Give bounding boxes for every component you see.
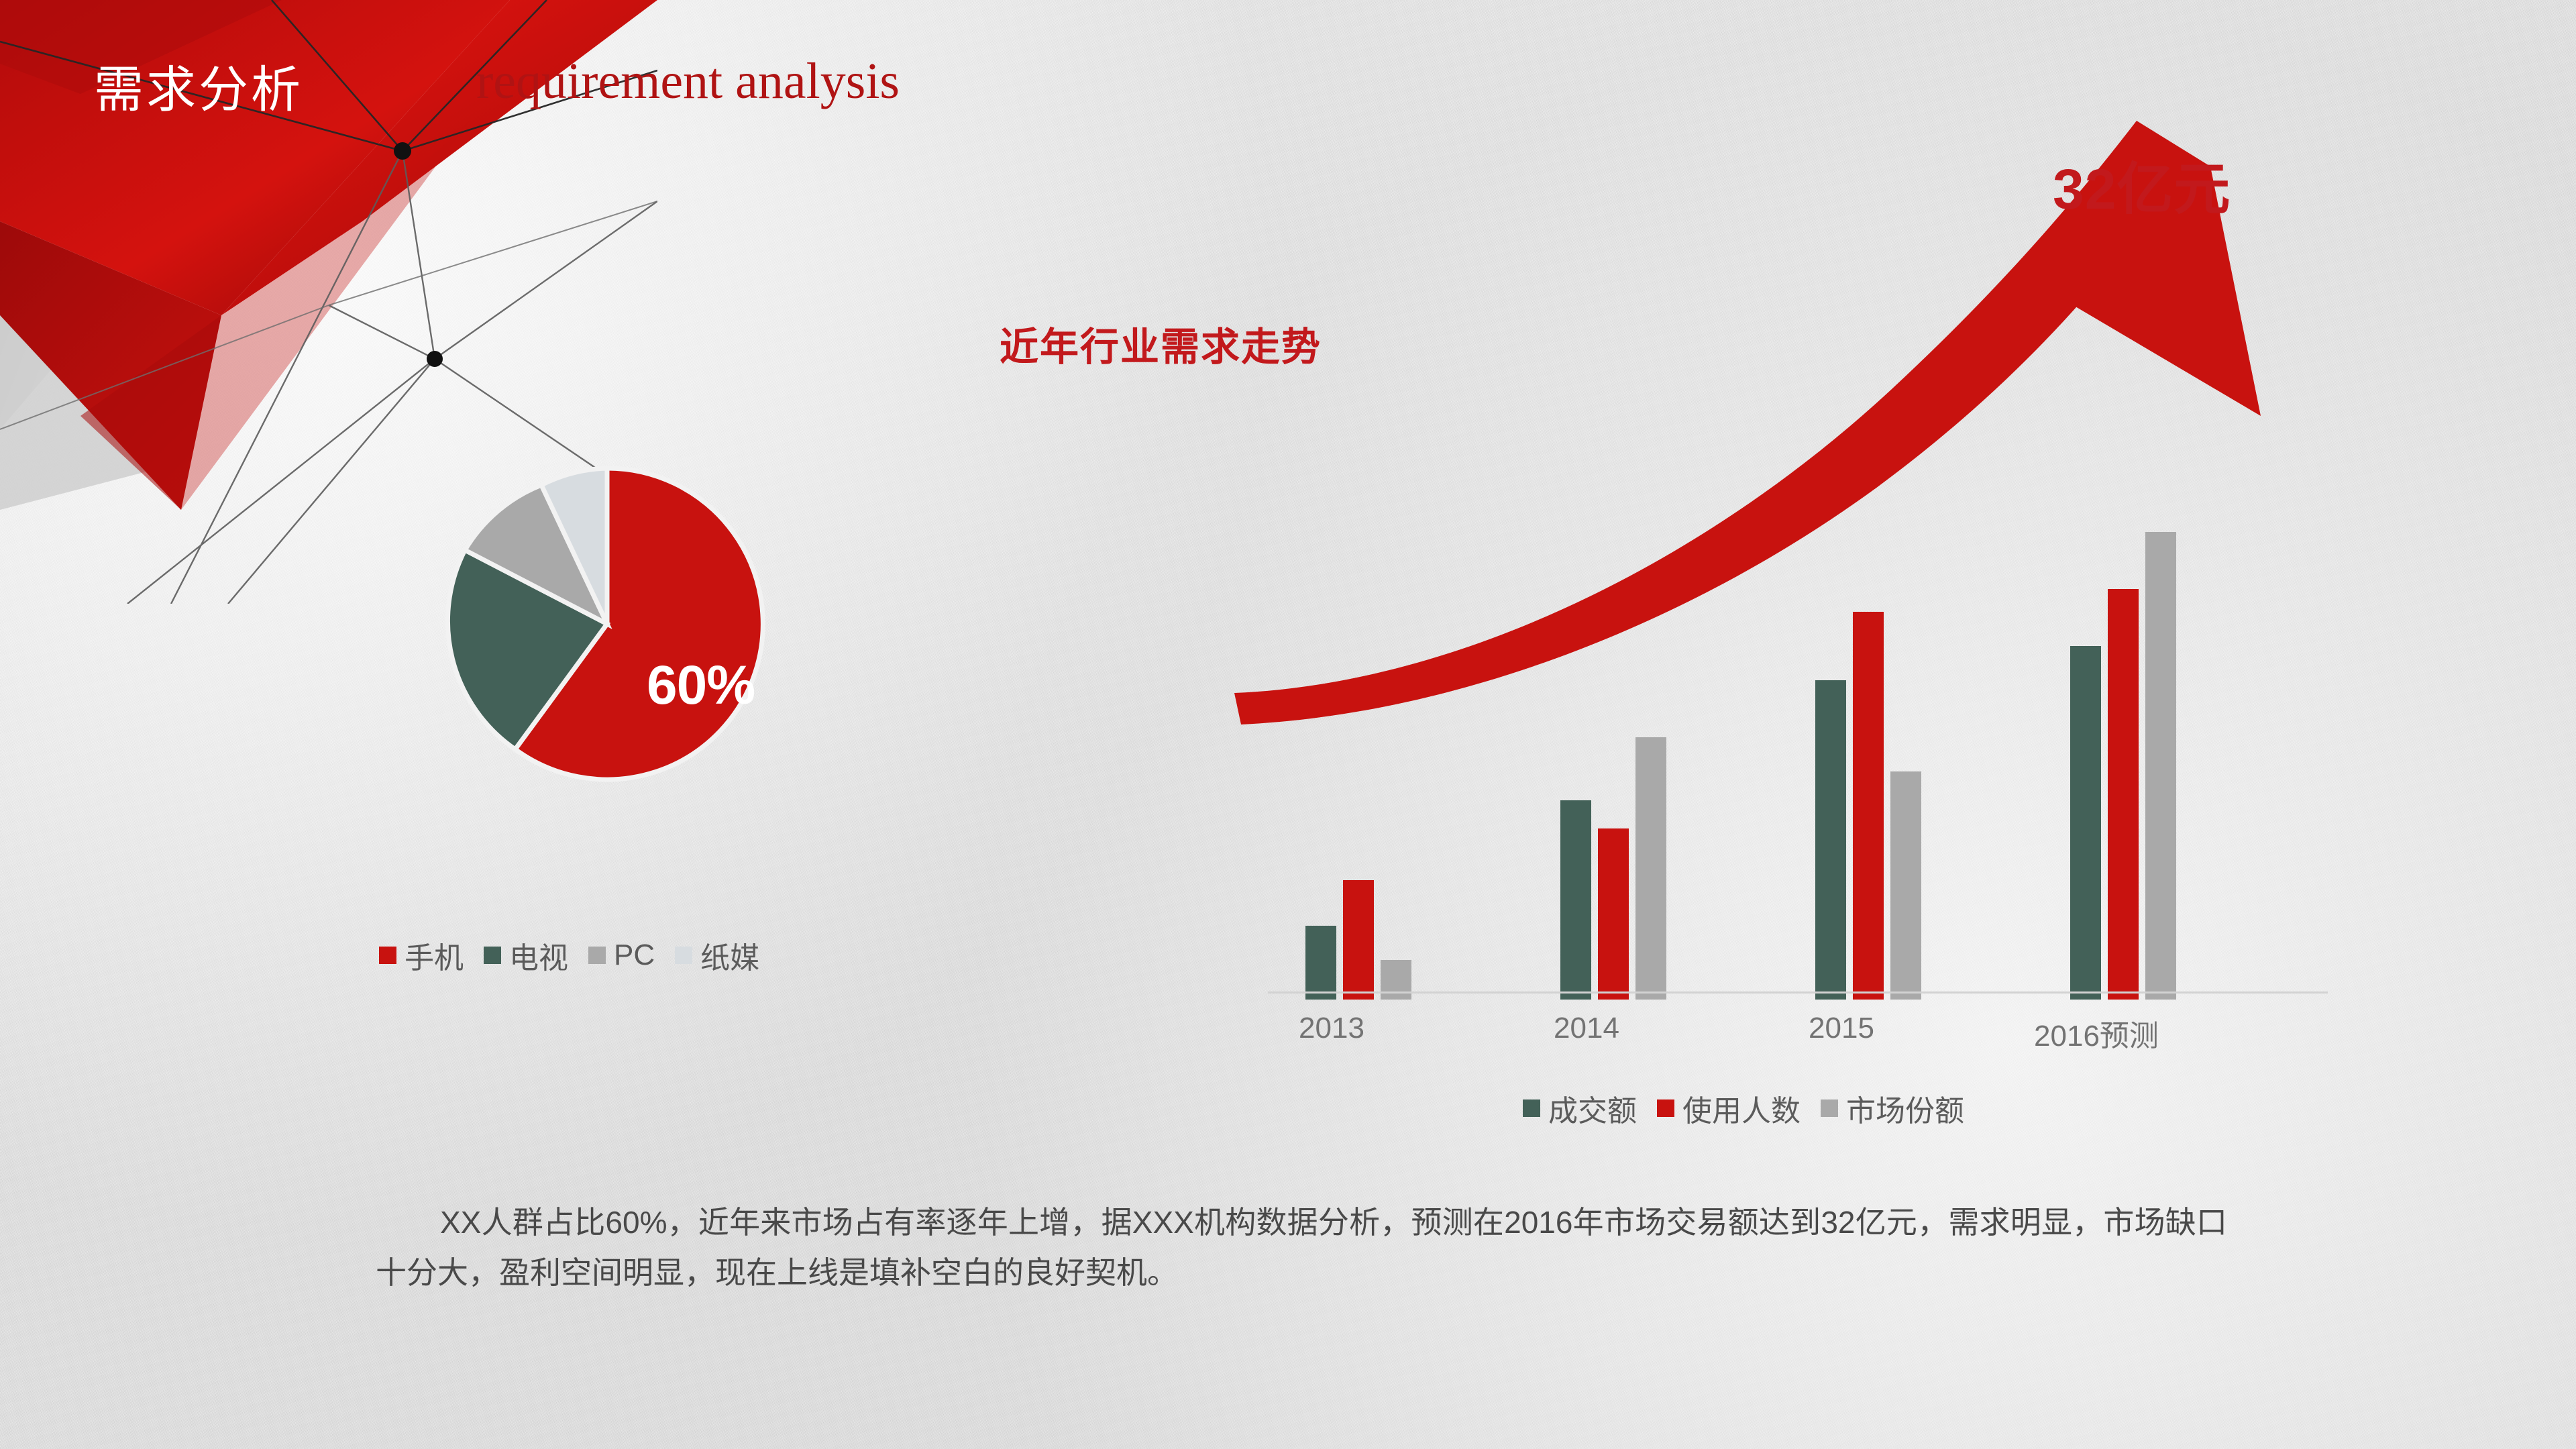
page-title-zh: 需求分析 [94, 50, 303, 121]
bar-group-2013 [1301, 429, 1415, 1000]
bar-chart-baseline [1268, 991, 2328, 994]
bar-2016-volume [2070, 646, 2101, 1000]
pie-legend-swatch-tv [484, 947, 501, 964]
summary-paragraph: XX人群占比60%，近年来市场占有率逐年上增，据XXX机构数据分析，预测在201… [376, 1197, 2227, 1297]
slide-canvas: 需求分析 requirement analysis 32亿元 近年行业需求走势 … [0, 0, 2576, 1449]
bar-chart [1275, 429, 2321, 1000]
bar-legend-label-volume: 成交额 [1548, 1087, 1637, 1130]
pie-legend-swatch-mobile [379, 947, 396, 964]
bar-group-2015 [1811, 429, 1925, 1000]
pie-legend-item-mobile[interactable]: 手机 [379, 934, 464, 977]
bar-chart-legend: 成交额 使用人数 市场份额 [1523, 1087, 1984, 1130]
bar-legend-item-users[interactable]: 使用人数 [1657, 1087, 1801, 1130]
bar-legend-label-users: 使用人数 [1682, 1087, 1801, 1130]
bar-2015-volume [1815, 680, 1846, 1000]
x-axis-label-2013: 2013 [1244, 1012, 1419, 1045]
forecast-callout-label: 32亿元 [2053, 144, 2231, 225]
paragraph-text: XX人群占比60%，近年来市场占有率逐年上增，据XXX机构数据分析，预测在201… [376, 1205, 2227, 1290]
page-title-en: requirement analysis [476, 52, 900, 111]
pie-legend-swatch-print [675, 947, 692, 964]
pie-legend-item-pc[interactable]: PC [588, 938, 655, 972]
pie-legend-swatch-pc [588, 947, 606, 964]
chart-heading: 近年行业需求走势 [1000, 315, 1322, 372]
bar-legend-item-volume[interactable]: 成交额 [1523, 1087, 1637, 1130]
pie-center-value: 60% [647, 654, 755, 717]
bar-2015-share [1890, 771, 1921, 1000]
bar-2013-volume [1305, 926, 1336, 1000]
bar-2015-users [1853, 612, 1884, 1000]
bar-2016-share [2145, 532, 2176, 1000]
pie-legend-label-pc: PC [614, 938, 655, 972]
pie-legend-label-tv: 电视 [509, 934, 568, 977]
bar-legend-swatch-share [1821, 1099, 1838, 1117]
pie-chart: 60% [402, 416, 832, 845]
pie-legend-label-print: 纸媒 [700, 934, 759, 977]
x-axis-label-2015: 2015 [1754, 1012, 1929, 1045]
pie-legend-item-tv[interactable]: 电视 [484, 934, 568, 977]
bar-2013-users [1343, 880, 1374, 1000]
bar-legend-label-share: 市场份额 [1846, 1087, 1964, 1130]
bar-2014-volume [1560, 800, 1591, 1000]
bar-legend-swatch-users [1657, 1099, 1674, 1117]
bar-2014-share [1635, 737, 1666, 1000]
bar-group-2014 [1556, 429, 1670, 1000]
bar-group-2016 [2066, 429, 2180, 1000]
x-axis-label-2016: 2016预测 [2009, 1012, 2184, 1055]
bar-chart-x-axis: 2013 2014 2015 2016预测 [1275, 1012, 2321, 1059]
pie-legend-item-print[interactable]: 纸媒 [675, 934, 759, 977]
bar-2014-users [1598, 828, 1629, 1000]
pie-legend-label-mobile: 手机 [405, 934, 464, 977]
bar-2016-users [2108, 589, 2139, 1000]
bar-legend-item-share[interactable]: 市场份额 [1821, 1087, 1964, 1130]
bar-2013-share [1381, 960, 1411, 1000]
x-axis-label-2014: 2014 [1499, 1012, 1674, 1045]
bar-legend-swatch-volume [1523, 1099, 1540, 1117]
pie-legend: 手机 电视 PC 纸媒 [379, 934, 795, 977]
